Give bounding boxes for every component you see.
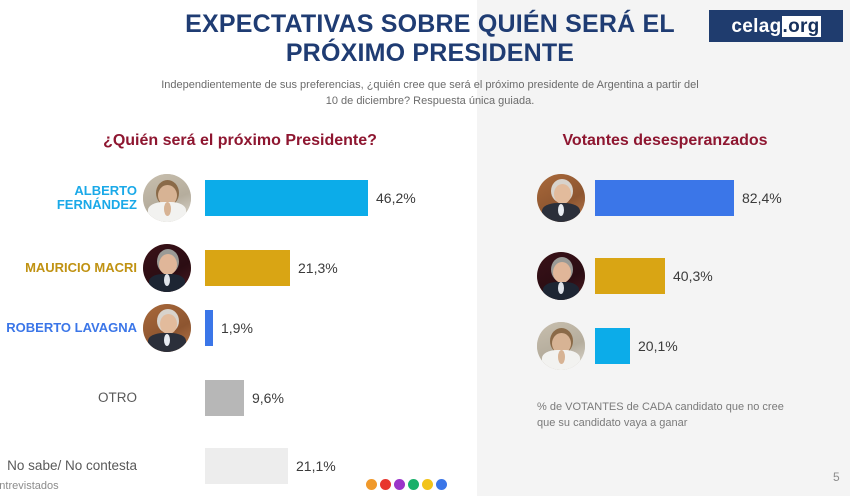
table-row: OTRO 9,6% (0, 373, 284, 423)
bar-group: 46,2% (205, 180, 416, 216)
avatar-alberto-fernandez (143, 174, 191, 222)
bar (205, 448, 288, 484)
right-panel-heading: Votantes desesperanzados (490, 132, 840, 150)
dot-icon (436, 479, 447, 490)
bar-group: 21,1% (205, 448, 336, 484)
table-row: MAURICIO MACRI 21,3% (0, 243, 338, 293)
candidate-label: MAURICIO MACRI (0, 261, 143, 275)
dot-icon (408, 479, 419, 490)
bar-value: 40,3% (673, 268, 713, 284)
bar-value: 9,6% (252, 390, 284, 406)
bar (205, 250, 290, 286)
avatar-roberto-lavagna (537, 174, 585, 222)
avatar-mauricio-macri (143, 244, 191, 292)
page-subtitle: Independientemente de sus preferencias, … (160, 78, 700, 110)
bar-value: 1,9% (221, 320, 253, 336)
logo-name: celag (731, 16, 781, 37)
source-note: e entrevistados (0, 480, 59, 492)
bar-group: 82,4% (595, 180, 782, 216)
dot-icon (394, 479, 405, 490)
logo-text: celag.org (731, 17, 820, 36)
bar-value: 20,1% (638, 338, 678, 354)
dot-icon (422, 479, 433, 490)
bar-group: 9,6% (205, 380, 284, 416)
candidate-label: ALBERTO FERNÁNDEZ (0, 184, 143, 213)
table-row: ROBERTO LAVAGNA 1,9% (0, 303, 253, 353)
candidate-label: ROBERTO LAVAGNA (0, 321, 143, 335)
right-panel-note: % de VOTANTES de CADA candidato que no c… (537, 400, 799, 432)
bar (595, 180, 734, 216)
table-row: ALBERTO FERNÁNDEZ 46,2% (0, 173, 416, 223)
bar-value: 82,4% (742, 190, 782, 206)
bar-value: 21,1% (296, 458, 336, 474)
category-label: OTRO (0, 391, 143, 406)
avatar-mauricio-macri (537, 252, 585, 300)
dot-icon (380, 479, 391, 490)
bar (595, 328, 630, 364)
bar-value: 21,3% (298, 260, 338, 276)
table-row: 40,3% (537, 251, 713, 301)
bar-group: 21,3% (205, 250, 338, 286)
bar (205, 380, 244, 416)
dot-icon (366, 479, 377, 490)
decorative-dots (366, 479, 447, 490)
table-row: 82,4% (537, 173, 782, 223)
bar (595, 258, 665, 294)
bar (205, 180, 368, 216)
bar-group: 20,1% (595, 328, 678, 364)
page-title: EXPECTATIVAS SOBRE QUIÉN SERÁ EL PRÓXIMO… (160, 10, 700, 68)
bar (205, 310, 213, 346)
avatar-alberto-fernandez (537, 322, 585, 370)
page-number: 5 (833, 470, 840, 484)
left-panel-heading: ¿Quién será el próximo Presidente? (20, 132, 460, 150)
celag-logo[interactable]: celag.org (709, 10, 843, 42)
avatar-roberto-lavagna (143, 304, 191, 352)
bar-value: 46,2% (376, 190, 416, 206)
bar-group: 1,9% (205, 310, 253, 346)
logo-tld: .org (782, 16, 821, 37)
table-row: 20,1% (537, 321, 678, 371)
category-label: No sabe/ No contesta (0, 459, 143, 474)
bar-group: 40,3% (595, 258, 713, 294)
slide: celag.org EXPECTATIVAS SOBRE QUIÉN SERÁ … (0, 0, 850, 496)
